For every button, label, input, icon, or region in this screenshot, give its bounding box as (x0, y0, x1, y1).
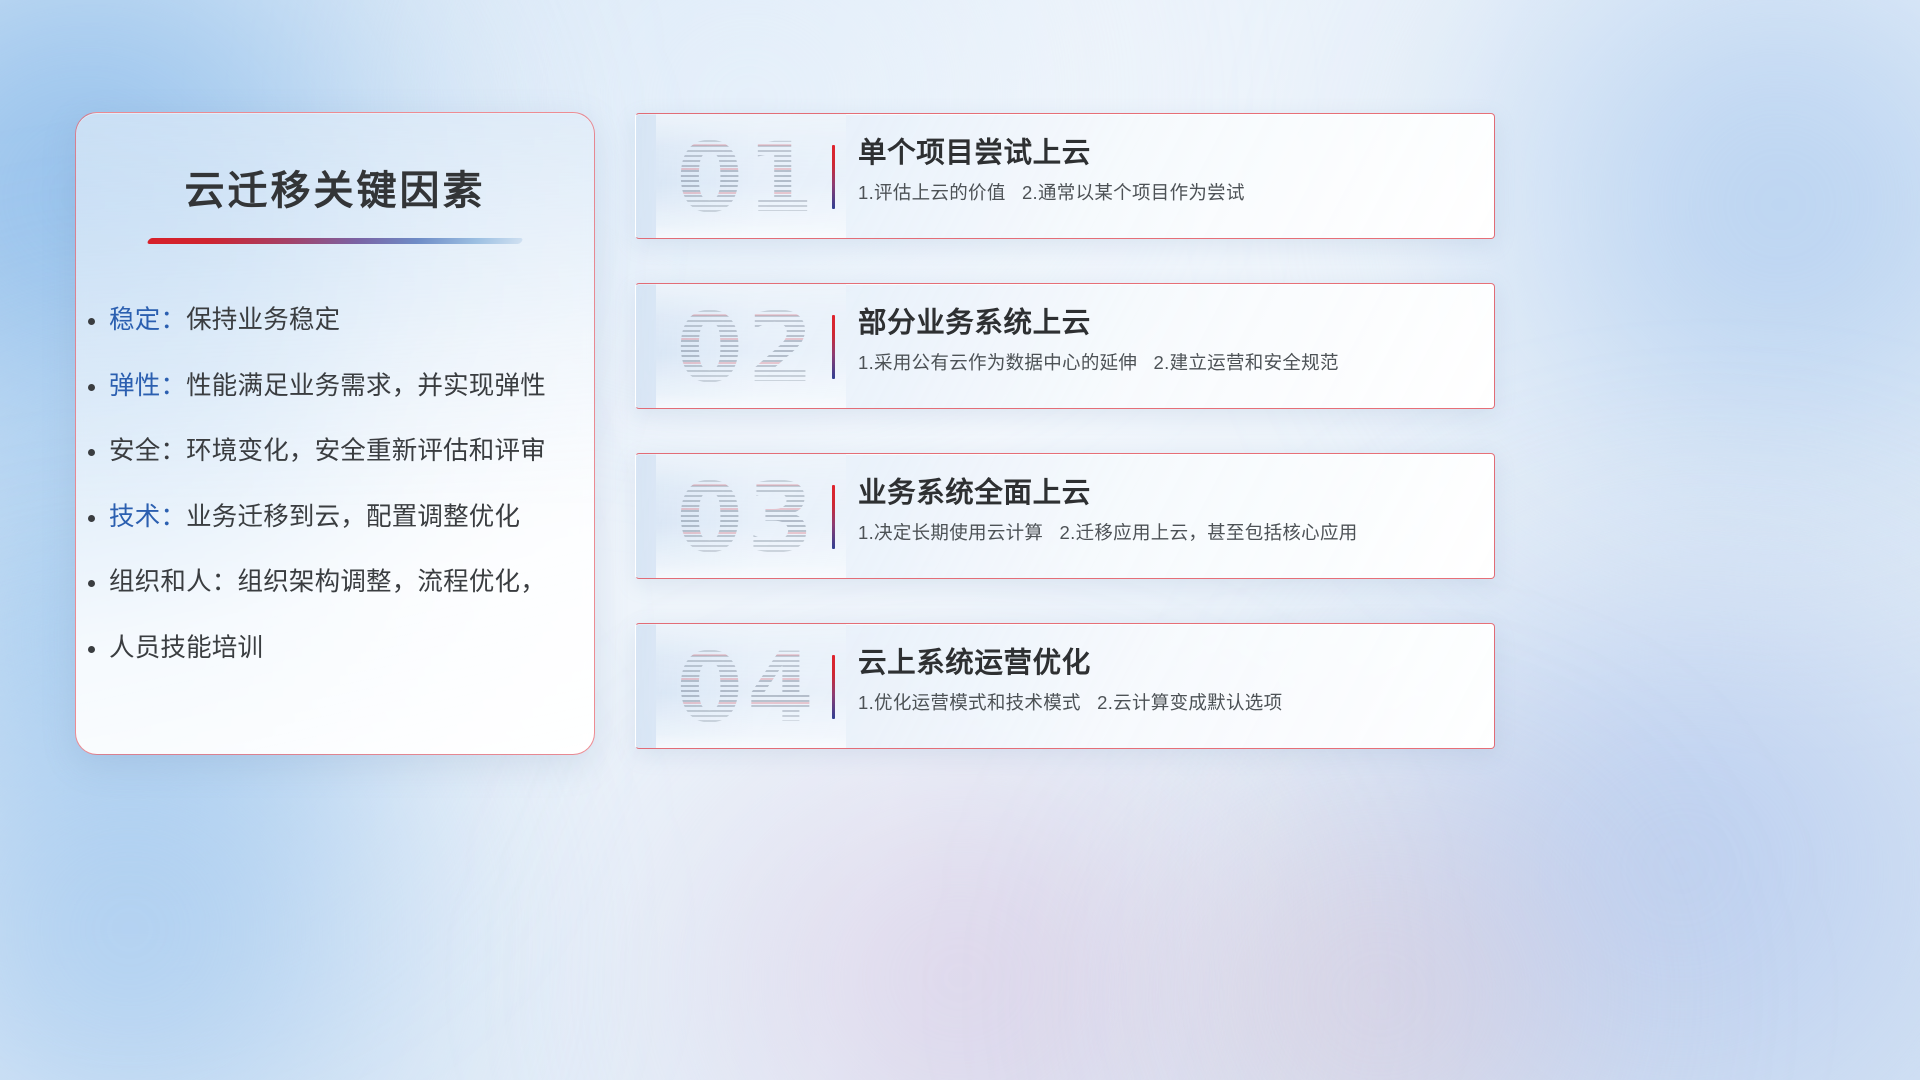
stage-title: 业务系统全面上云 (858, 476, 1476, 512)
factor-row: 稳定：保持业务稳定 (109, 308, 594, 334)
panel-title: 云迁移关键因素 (76, 158, 594, 216)
factor-text: 业务迁移到云，配置调整优化 (186, 503, 520, 531)
factor-list: 稳定：保持业务稳定 弹性：性能满足业务需求，并实现弹性 安全：环境变化，安全重新… (76, 308, 594, 661)
factor-label: 弹性： (109, 372, 186, 400)
stage-description: 1.评估上云的价值 2.通常以某个项目作为尝试 (858, 181, 1476, 205)
stage-description: 1.决定长期使用云计算 2.迁移应用上云，甚至包括核心应用 (858, 521, 1476, 545)
factor-row: 技术：业务迁移到云，配置调整优化 (109, 505, 594, 531)
stage-title: 部分业务系统上云 (858, 306, 1476, 342)
stage-accent-bar (832, 315, 835, 379)
stage-number: 03 (662, 460, 832, 576)
factor-text: 人员技能培训 (109, 634, 263, 662)
factor-text: 保持业务稳定 (186, 306, 340, 334)
factor-row: 弹性：性能满足业务需求，并实现弹性 (109, 374, 594, 400)
stage-number: 01 (662, 120, 832, 236)
stage-card[interactable]: 03 03 业务系统全面上云 1.决定长期使用云计算 2.迁移应用上云，甚至包括… (635, 453, 1495, 579)
factor-text: 环境变化，安全重新评估和评审 (186, 437, 546, 465)
factor-row: 安全：环境变化，安全重新评估和评审 (109, 439, 594, 465)
stage-card[interactable]: 01 01 单个项目尝试上云 1.评估上云的价值 2.通常以某个项目作为尝试 (635, 113, 1495, 239)
factor-label: 稳定： (109, 306, 186, 334)
stage-accent-bar (832, 485, 835, 549)
stage-card-list: 01 01 单个项目尝试上云 1.评估上云的价值 2.通常以某个项目作为尝试 0… (635, 113, 1495, 749)
key-factors-panel: 云迁移关键因素 稳定：保持业务稳定 弹性：性能满足业务需求，并实现弹性 安全：环… (75, 112, 595, 755)
stage-card[interactable]: 04 04 云上系统运营优化 1.优化运营模式和技术模式 2.云计算变成默认选项 (635, 623, 1495, 749)
stage-card-body: 云上系统运营优化 1.优化运营模式和技术模式 2.云计算变成默认选项 (858, 646, 1476, 715)
factor-row: 人员技能培训 (109, 636, 594, 662)
factor-text: 性能满足业务需求，并实现弹性 (186, 372, 546, 400)
stage-accent-bar (832, 655, 835, 719)
slide-stage: 云迁移关键因素 稳定：保持业务稳定 弹性：性能满足业务需求，并实现弹性 安全：环… (0, 0, 1920, 1080)
stage-card-body: 单个项目尝试上云 1.评估上云的价值 2.通常以某个项目作为尝试 (858, 136, 1476, 205)
stage-number: 02 (662, 290, 832, 406)
factor-label: 技术： (109, 503, 186, 531)
stage-description: 1.优化运营模式和技术模式 2.云计算变成默认选项 (858, 691, 1476, 715)
stage-title: 云上系统运营优化 (858, 646, 1476, 682)
factor-row: 组织和人：组织架构调整，流程优化， (109, 570, 594, 596)
stage-accent-bar (832, 145, 835, 209)
stage-card[interactable]: 02 02 部分业务系统上云 1.采用公有云作为数据中心的延伸 2.建立运营和安… (635, 283, 1495, 409)
stage-number: 04 (662, 630, 832, 746)
stage-card-body: 部分业务系统上云 1.采用公有云作为数据中心的延伸 2.建立运营和安全规范 (858, 306, 1476, 375)
factor-label: 组织和人： (109, 568, 238, 596)
title-underline-rule (146, 238, 523, 244)
factor-label: 安全： (109, 437, 186, 465)
stage-card-body: 业务系统全面上云 1.决定长期使用云计算 2.迁移应用上云，甚至包括核心应用 (858, 476, 1476, 545)
factor-text: 组织架构调整，流程优化， (238, 568, 546, 596)
stage-description: 1.采用公有云作为数据中心的延伸 2.建立运营和安全规范 (858, 351, 1476, 375)
stage-title: 单个项目尝试上云 (858, 136, 1476, 172)
